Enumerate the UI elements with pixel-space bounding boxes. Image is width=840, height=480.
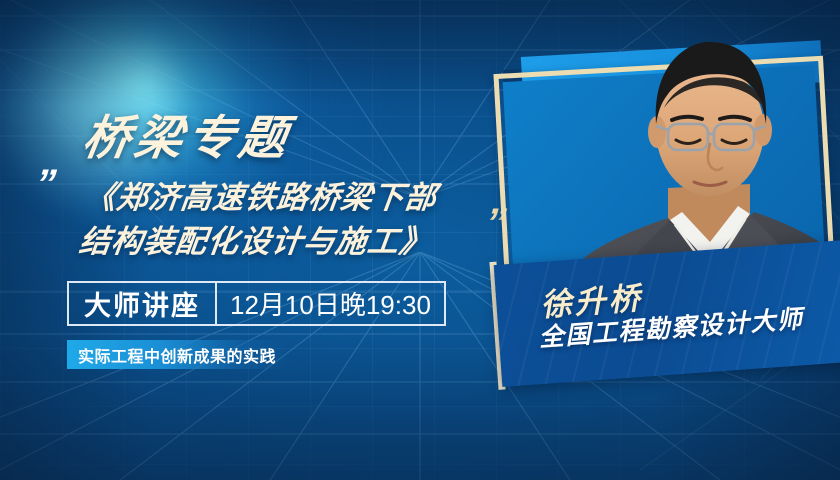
lecture-subbanner: 实际工程中创新成果的实践 xyxy=(67,340,288,369)
lecture-subject: 《郑济高速铁路桥梁下部 结构装配化设计与施工》 xyxy=(77,176,508,264)
speaker-nameplate: 徐升桥 全国工程勘察设计大师 xyxy=(494,240,840,387)
page-title: 桥梁专题 xyxy=(79,99,298,168)
lecture-info-box: 大师讲座 12月10日晚19:30 xyxy=(67,281,446,326)
lecture-datetime: 12月10日晚19:30 xyxy=(217,283,444,324)
speaker-composition: 徐升桥 全国工程勘察设计大师 xyxy=(480,0,840,480)
left-text-block: 桥梁专题 ” ” 《郑济高速铁路桥梁下部 结构装配化设计与施工》 大师讲座 12… xyxy=(0,0,520,480)
quote-open-icon: ” xyxy=(30,164,59,204)
lecture-subject-line-1: 《郑济高速铁路桥梁下部 xyxy=(82,176,507,220)
poster-canvas: 桥梁专题 ” ” 《郑济高速铁路桥梁下部 结构装配化设计与施工》 大师讲座 12… xyxy=(0,0,840,480)
lecture-subject-line-2: 结构装配化设计与施工》 xyxy=(77,220,502,264)
lecture-badge-label: 大师讲座 xyxy=(69,283,215,324)
